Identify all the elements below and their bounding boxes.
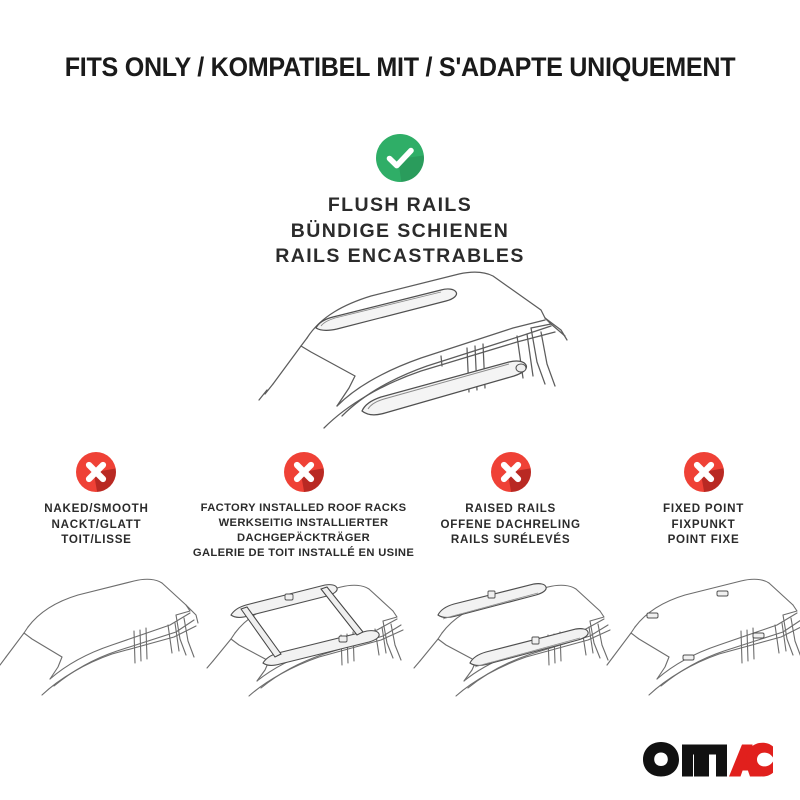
compatible-label-en: FLUSH RAILS: [0, 193, 800, 219]
label-fixed-en: FIXED POINT: [663, 501, 744, 517]
compatible-label-de: BÜNDIGE SCHIENEN: [0, 219, 800, 245]
label-raised-fr: RAILS SURÉLEVÉS: [440, 532, 580, 548]
page-title: FITS ONLY / KOMPATIBEL MIT / S'ADAPTE UN…: [28, 52, 772, 83]
incompatible-item-fixed-point: FIXED POINT FIXPUNKT POINT FIXE: [607, 452, 800, 702]
check-icon-glyph: [376, 134, 424, 182]
incompatible-item-raised-rails: RAISED RAILS OFFENE DACHRELING RAILS SUR…: [414, 452, 607, 702]
cross-icon-glyph: [684, 452, 724, 492]
label-naked-de: NACKT/GLATT: [44, 517, 148, 533]
car-roof-raised-rails-illustration: [408, 575, 613, 700]
car-roof-flush-rails-svg: [245, 266, 575, 441]
incompatible-labels-raised-rails: RAISED RAILS OFFENE DACHRELING RAILS SUR…: [440, 501, 580, 548]
car-roof-naked-svg: [0, 575, 199, 700]
omac-logo-letter-m-right: [716, 752, 727, 777]
car-roof-factory-rack-svg: [201, 575, 406, 700]
cross-icon-glyph: [76, 452, 116, 492]
label-factory-de-2: DACHGEPÄCKTRÄGER: [193, 531, 414, 546]
label-fixed-fr: POINT FIXE: [663, 532, 744, 548]
car-roof-raised-rails-svg: [408, 575, 613, 700]
omac-logo-svg: [642, 738, 774, 778]
omac-logo-letter-o: [643, 742, 679, 777]
incompatible-item-factory-rack: FACTORY INSTALLED ROOF RACKS WERKSEITIG …: [193, 452, 414, 702]
cross-icon-glyph: [491, 452, 531, 492]
car-roof-factory-rack-illustration: [201, 575, 406, 700]
cross-icon: [76, 452, 116, 492]
car-roof-flush-rails-illustration: [245, 266, 575, 441]
incompatible-labels-fixed-point: FIXED POINT FIXPUNKT POINT FIXE: [663, 501, 744, 548]
check-icon: [376, 134, 424, 182]
label-factory-de-1: WERKSEITIG INSTALLIERTER: [193, 516, 414, 531]
incompatible-labels-naked: NAKED/SMOOTH NACKT/GLATT TOIT/LISSE: [44, 501, 148, 548]
omac-logo-letter-m-left: [682, 752, 693, 777]
label-raised-en: RAISED RAILS: [440, 501, 580, 517]
cross-icon-glyph: [284, 452, 324, 492]
label-factory-en: FACTORY INSTALLED ROOF RACKS: [193, 501, 414, 516]
compatibility-infographic: FITS ONLY / KOMPATIBEL MIT / S'ADAPTE UN…: [0, 0, 800, 800]
cross-icon: [491, 452, 531, 492]
label-fixed-de: FIXPUNKT: [663, 517, 744, 533]
label-raised-de: OFFENE DACHRELING: [440, 517, 580, 533]
incompatible-labels-factory-rack: FACTORY INSTALLED ROOF RACKS WERKSEITIG …: [193, 501, 414, 561]
label-naked-fr: TOIT/LISSE: [44, 532, 148, 548]
car-roof-naked-illustration: [0, 575, 199, 700]
car-roof-fixed-point-illustration: [601, 575, 800, 700]
omac-logo: [642, 738, 774, 778]
cross-icon: [684, 452, 724, 492]
compatible-section: FLUSH RAILS BÜNDIGE SCHIENEN RAILS ENCAS…: [0, 134, 800, 270]
flush-rail-near: [362, 361, 526, 415]
cross-icon: [284, 452, 324, 492]
car-roof-fixed-point-svg: [601, 575, 800, 700]
label-naked-en: NAKED/SMOOTH: [44, 501, 148, 517]
label-factory-fr: GALERIE DE TOIT INSTALLÉ EN USINE: [193, 546, 414, 561]
incompatible-item-naked: NAKED/SMOOTH NACKT/GLATT TOIT/LISSE: [0, 452, 193, 702]
omac-logo-letter-m-mid: [698, 752, 709, 777]
incompatible-section: NAKED/SMOOTH NACKT/GLATT TOIT/LISSE: [0, 452, 800, 702]
compatible-labels: FLUSH RAILS BÜNDIGE SCHIENEN RAILS ENCAS…: [0, 193, 800, 270]
